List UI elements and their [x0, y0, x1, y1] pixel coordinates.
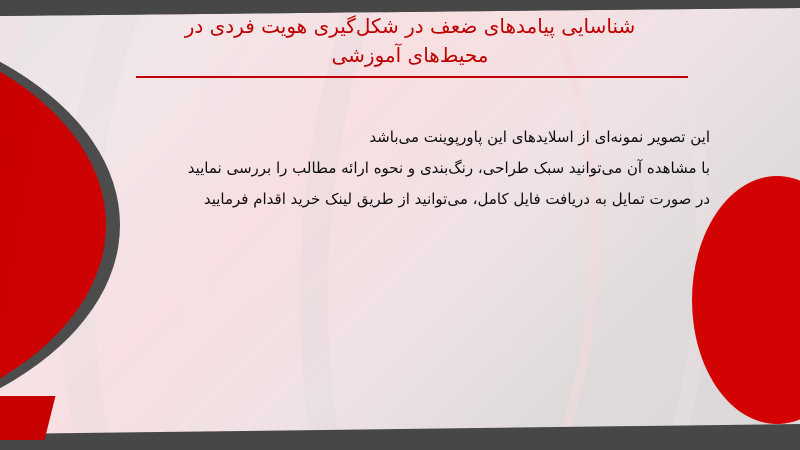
slide-title-line-2: محیط‌های آموزشی: [130, 41, 690, 70]
slide-body: این تصویر نمونه‌ای از اسلایدهای این پاور…: [90, 122, 710, 215]
body-line-1: این تصویر نمونه‌ای از اسلایدهای این پاور…: [90, 122, 710, 153]
slide-title-line-1: شناسایی پیامدهای ضعف در شکل‌گیری هویت فر…: [130, 12, 690, 41]
slide-title: شناسایی پیامدهای ضعف در شکل‌گیری هویت فر…: [130, 12, 690, 70]
body-line-2: با مشاهده آن می‌توانید سبک طراحی، رنگ‌بن…: [90, 153, 710, 184]
body-line-3: در صورت تمایل به دریافت فایل کامل، می‌تو…: [90, 184, 710, 215]
presentation-slide: شناسایی پیامدهای ضعف در شکل‌گیری هویت فر…: [0, 0, 800, 450]
title-underline: [136, 76, 688, 78]
